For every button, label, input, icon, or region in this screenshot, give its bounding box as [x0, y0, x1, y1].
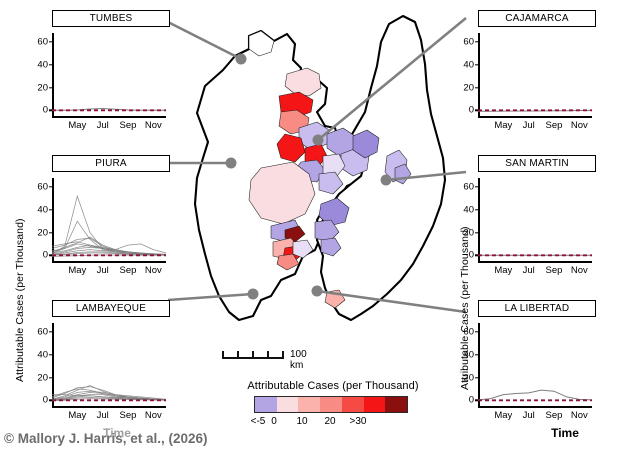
panel-strip-label: PIURA [52, 155, 170, 172]
legend-tick-3: 20 [324, 416, 335, 427]
y-tick-label: 40 [463, 204, 474, 215]
y-tick-label: 40 [37, 349, 48, 360]
legend-tick-labels: <-501020>30 [254, 416, 406, 432]
series-line [478, 390, 592, 400]
plot-area: 0204060MayJulSepNov [478, 27, 596, 138]
plot-area: 0204060MayJulSepNov [478, 172, 596, 283]
y-tick-label: 20 [463, 227, 474, 238]
y-tick-label: 20 [463, 372, 474, 383]
plot-area: 0204060MayJulSepNov [52, 317, 170, 428]
scale-bar-tick [282, 351, 284, 359]
legend-swatch-4 [342, 397, 364, 412]
scale-bar-tick [222, 351, 224, 359]
y-tick-label: 60 [463, 182, 474, 193]
panel-lambayeque: LAMBAYEQUE0204060MayJulSepNov [52, 300, 170, 428]
y-tick-label: 40 [37, 59, 48, 70]
y-tick-label: 40 [463, 349, 474, 360]
scale-bar-tick [267, 351, 269, 359]
y-axis-label-left: Attributable Cases (per Thousand) [14, 218, 26, 382]
panel-strip-label: LAMBAYEQUE [52, 300, 170, 317]
legend-swatch-5 [364, 397, 386, 412]
choropleth-map [175, 8, 455, 368]
scale-bar-tick [252, 351, 254, 359]
panel-title: TUMBES [90, 14, 133, 24]
panel-title: LAMBAYEQUE [76, 304, 146, 314]
panel-title: CAJAMARCA [505, 14, 568, 24]
panel-tumbes: TUMBES0204060MayJulSepNov [52, 10, 170, 138]
legend-tick-4: >30 [350, 416, 367, 427]
legend-tick-1: 0 [271, 416, 277, 427]
y-tick-label: 60 [463, 37, 474, 48]
y-tick-label: 60 [37, 327, 48, 338]
y-tick-label: 60 [463, 327, 474, 338]
series-layer [478, 27, 592, 138]
scale-bar-tick [237, 351, 239, 359]
legend-swatch-0 [255, 397, 277, 412]
panel-strip-label: TUMBES [52, 10, 170, 27]
watermark: © Mallory J. Harris, et al., (2026) [0, 425, 268, 451]
y-tick-label: 20 [37, 227, 48, 238]
series-layer [52, 172, 166, 283]
watermark-text: © Mallory J. Harris, et al., (2026) [0, 431, 208, 446]
panel-la-libertad: LA LIBERTAD0204060MayJulSepNov [478, 300, 596, 428]
plot-area: 0204060MayJulSepNov [52, 27, 170, 138]
y-tick-label: 20 [463, 82, 474, 93]
panel-title: SAN MARTIN [505, 159, 569, 169]
y-tick-label: 0 [43, 105, 48, 116]
plot-area: 0204060MayJulSepNov [52, 172, 170, 283]
scale-bar-label: 100 km [290, 349, 307, 371]
legend-swatch-6 [385, 397, 407, 412]
y-tick-label: 0 [43, 395, 48, 406]
y-tick-label: 60 [37, 37, 48, 48]
series-layer [52, 317, 166, 428]
y-tick-label: 0 [469, 250, 474, 261]
x-axis-label-right: Time [500, 426, 630, 440]
panel-cajamarca: CAJAMARCA0204060MayJulSepNov [478, 10, 596, 138]
y-tick-label: 60 [37, 182, 48, 193]
legend-tick-2: 10 [296, 416, 307, 427]
panel-san-martin: SAN MARTIN0204060MayJulSepNov [478, 155, 596, 283]
y-tick-label: 40 [463, 59, 474, 70]
map-svg [175, 8, 455, 368]
series-layer [478, 317, 592, 428]
y-tick-label: 20 [37, 372, 48, 383]
series-layer [478, 172, 592, 283]
y-tick-label: 0 [43, 250, 48, 261]
panel-strip-label: LA LIBERTAD [478, 300, 596, 317]
legend-colorbar [254, 396, 408, 413]
y-tick-label: 40 [37, 204, 48, 215]
y-tick-label: 0 [469, 395, 474, 406]
y-tick-label: 0 [469, 105, 474, 116]
y-tick-label: 20 [37, 82, 48, 93]
panel-piura: PIURA0204060MayJulSepNov [52, 155, 170, 283]
legend-swatch-2 [298, 397, 320, 412]
figure-root: Attributable Cases (per Thousand) Attrib… [0, 0, 634, 451]
panel-title: PIURA [95, 159, 127, 169]
plot-area: 0204060MayJulSepNov [478, 317, 596, 428]
legend-swatch-3 [320, 397, 342, 412]
panel-title: LA LIBERTAD [505, 304, 570, 314]
legend-swatch-1 [277, 397, 299, 412]
panel-strip-label: CAJAMARCA [478, 10, 596, 27]
panel-strip-label: SAN MARTIN [478, 155, 596, 172]
legend-title: Attributable Cases (per Thousand) [233, 380, 433, 392]
series-layer [52, 27, 166, 138]
